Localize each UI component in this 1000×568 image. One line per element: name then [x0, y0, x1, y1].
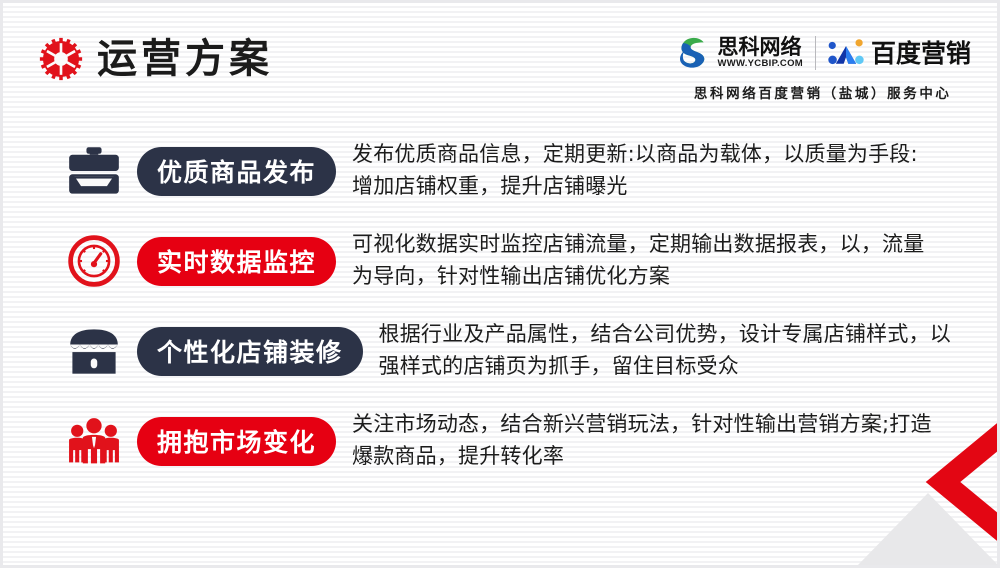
brand-block: 思科网络 WWW.YCBIP.COM 百度营销	[674, 31, 971, 102]
slide-canvas: 运营方案 思科网络 WWW.YCBIP.COM	[0, 0, 1000, 568]
baidu-name: 百度营销	[871, 41, 971, 66]
storefront-icon	[65, 322, 123, 380]
page-title: 运营方案	[97, 39, 273, 79]
feature-rows: 优质商品发布 发布优质商品信息，定期更新:以商品为载体，以质量为手段:增加店铺权…	[3, 131, 997, 481]
list-item-description: 关注市场动态，结合新兴营销玩法，针对性输出营销方案;打造爆款商品，提升转化率	[352, 409, 932, 473]
baidu-marketing-logo: 百度营销	[828, 38, 971, 68]
sike-network-logo: 思科网络 WWW.YCBIP.COM	[674, 34, 803, 72]
brand-subtitle: 思科网络百度营销（盐城）服务中心	[694, 82, 952, 102]
sike-name: 思科网络	[717, 37, 803, 58]
list-item: 实时数据监控 可视化数据实时监控店铺流量，定期输出数据报表，以，流量为导向，针对…	[3, 221, 997, 301]
gauge-icon	[65, 232, 123, 290]
people-group-icon	[65, 412, 123, 470]
status-badge: 实时数据监控	[137, 237, 336, 286]
list-item: 拥抱市场变化 关注市场动态，结合新兴营销玩法，针对性输出营销方案;打造爆款商品，…	[3, 401, 997, 481]
list-item-description: 可视化数据实时监控店铺流量，定期输出数据报表，以，流量为导向，针对性输出店铺优化…	[352, 229, 932, 293]
gear-icon	[39, 37, 83, 81]
list-item-description: 根据行业及产品属性，结合公司优势，设计专属店铺样式，以强样式的店铺页为抓手，留住…	[379, 319, 959, 383]
status-badge: 个性化店铺装修	[137, 327, 363, 376]
sike-url: WWW.YCBIP.COM	[717, 59, 803, 69]
brand-divider	[815, 36, 816, 70]
brand-logos-row: 思科网络 WWW.YCBIP.COM 百度营销	[674, 31, 971, 75]
briefcase-icon	[65, 142, 123, 200]
page-title-group: 运营方案	[39, 37, 273, 81]
list-item: 个性化店铺装修 根据行业及产品属性，结合公司优势，设计专属店铺样式，以强样式的店…	[3, 311, 997, 391]
status-badge: 拥抱市场变化	[137, 417, 336, 466]
list-item-description: 发布优质商品信息，定期更新:以商品为载体，以质量为手段:增加店铺权重，提升店铺曝…	[352, 139, 932, 203]
baidu-marketing-logo-icon	[828, 38, 864, 68]
sike-swirl-logo-icon	[674, 34, 712, 72]
status-badge: 优质商品发布	[137, 147, 336, 196]
sike-text-block: 思科网络 WWW.YCBIP.COM	[717, 37, 803, 70]
list-item: 优质商品发布 发布优质商品信息，定期更新:以商品为载体，以质量为手段:增加店铺权…	[3, 131, 997, 211]
